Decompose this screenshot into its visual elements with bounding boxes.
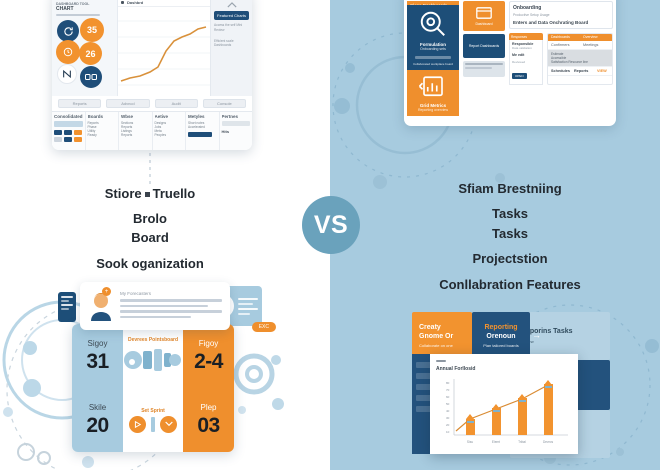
bubble-metrics-panel: DASHBOARD TOOL CHART 35 26 bbox=[52, 0, 118, 96]
table-row[interactable]: Confirmers Meetings bbox=[548, 41, 612, 50]
grid-column-consolidated[interactable]: Consolidated bbox=[52, 112, 86, 150]
tile-sub: Collaborate on one bbox=[419, 343, 465, 348]
grid-column-active[interactable]: Aetive Designs Jobs Meta Peoples bbox=[153, 112, 187, 150]
grid-stat-row: Hits bbox=[222, 129, 251, 134]
stat-value: 2-4 bbox=[194, 350, 223, 374]
view-link[interactable]: VIEW bbox=[594, 67, 612, 75]
bullet-square bbox=[145, 192, 150, 197]
response-item: Me edit bbox=[512, 53, 540, 57]
svg-text:20: 20 bbox=[446, 423, 450, 427]
bar-chart-card[interactable]: Annual Forllosid 807060 504030 2010 bbox=[430, 354, 578, 454]
collaboration-dashboard-card[interactable]: Close Dashboards Formulation Onboarding … bbox=[404, 0, 616, 126]
server-icon bbox=[58, 292, 76, 322]
x-tick-0: Sisu bbox=[467, 440, 473, 444]
side-note-3: Dashboards bbox=[214, 43, 249, 47]
side-note-1: Access the self Mini Review bbox=[214, 23, 249, 33]
svg-text:70: 70 bbox=[446, 388, 450, 392]
chart-side-panel[interactable]: Featured Charts Access the self Mini Rev… bbox=[210, 0, 252, 96]
left-headline-2: Brolo bbox=[0, 211, 300, 226]
chart-tab-icon bbox=[121, 1, 124, 4]
right-headline-4: Projectstion bbox=[360, 251, 660, 266]
main-content-column: Onboarding Productive Setup Usage Enters… bbox=[509, 1, 613, 115]
profile-title: My Forecasters bbox=[120, 291, 222, 296]
table-cell: Reports bbox=[571, 67, 594, 75]
thumb-label: Dashboard bbox=[475, 22, 492, 26]
thumbnail-column[interactable]: Dashboard Report Dashboards bbox=[463, 1, 505, 115]
right-headline-3: Tasks bbox=[360, 226, 660, 241]
grid-column-metyles[interactable]: Metyles Short notes Accelerated bbox=[186, 112, 220, 150]
open-badge[interactable]: OPEN bbox=[512, 73, 527, 79]
features-illustration: Pusporins Tasks Overview Reporerts Tasks… bbox=[412, 312, 612, 460]
right-headline-1: Sfiam Brestniing bbox=[360, 181, 660, 196]
chart-tab-row[interactable]: Dashbrd bbox=[118, 0, 210, 7]
divider-bar bbox=[151, 417, 155, 432]
comparison-infographic: DASHBOARD TOOL CHART 35 26 bbox=[0, 0, 660, 470]
dashed-connector bbox=[146, 146, 154, 188]
vs-badge: VS bbox=[302, 196, 360, 254]
table-cell: Satisfaction Resource line bbox=[551, 60, 609, 64]
right-headline-2: Tasks bbox=[360, 206, 660, 221]
thumb-workflow-overviews[interactable] bbox=[463, 61, 505, 77]
left-panel: DASHBOARD TOOL CHART 35 26 bbox=[0, 0, 330, 470]
tile-title-a: Reporting bbox=[484, 324, 517, 333]
response-item: Data validation bbox=[512, 46, 540, 50]
tile-title-b: Orenoun bbox=[486, 333, 515, 342]
stat-label: Skile bbox=[89, 403, 106, 412]
left-headline-1b: Truello bbox=[153, 186, 196, 201]
tile-title: Creaty Gnome Or bbox=[419, 324, 465, 342]
menu-icon[interactable] bbox=[436, 360, 446, 362]
grid-col-header: Pertnes bbox=[222, 114, 251, 119]
tile-creaty-gnome[interactable]: Creaty Gnome Or Collaborate on one bbox=[412, 312, 472, 360]
note-bullet: Enters and Data Onchrating Board bbox=[513, 20, 609, 25]
grid-cell: Ready bbox=[88, 133, 117, 137]
metric-bubble-35[interactable]: 35 bbox=[80, 18, 104, 42]
panel-sub: Reporting overview bbox=[418, 108, 448, 112]
footer-button-reports[interactable]: Reports bbox=[58, 99, 101, 108]
response-item: Reviewed bbox=[512, 60, 540, 64]
grid-col-header: Consolidated bbox=[54, 114, 83, 119]
table-row[interactable]: Estimate Accessible Satisfaction Resourc… bbox=[548, 50, 612, 67]
table-cell: Schedules bbox=[548, 67, 571, 75]
tile-sub: Plan tailored boards bbox=[483, 343, 519, 348]
grid-column-wbse[interactable]: Wbse Sections Reports Listings Reports bbox=[119, 112, 153, 150]
stat-cell-plep[interactable]: Plep 03 bbox=[183, 388, 234, 452]
trend-line-chart bbox=[118, 7, 210, 95]
board-organization-illustration: EXC + My Forecasters bbox=[58, 282, 248, 454]
annual-bar-chart: 807060 504030 2010 bbox=[436, 375, 572, 449]
dashboards-table[interactable]: Dashboards Overview Confirmers Meetings … bbox=[547, 33, 613, 85]
tables-row: Responses Responsible Data validation Me… bbox=[509, 33, 613, 85]
metric-bubble-clock[interactable] bbox=[56, 40, 80, 64]
x-tick-3: Devros bbox=[543, 440, 554, 444]
panel-foot: Collaborated workplace board bbox=[413, 62, 453, 66]
responses-header: Responses bbox=[509, 33, 543, 40]
svg-text:10: 10 bbox=[446, 430, 450, 434]
formulation-panel[interactable]: Formulation Onboarding sets Collaborated… bbox=[407, 5, 459, 70]
grid-cell: Accelerated bbox=[188, 125, 217, 129]
stat-value: 31 bbox=[86, 350, 108, 374]
left-headline-4: Sook oganization bbox=[0, 256, 300, 271]
chart-title: Annual Forllosid bbox=[436, 366, 572, 372]
arrow-right-icon: → bbox=[532, 330, 541, 340]
data-grid[interactable]: Consolidated Boards Reports Phase Utilit… bbox=[52, 111, 252, 150]
stat-value: 03 bbox=[197, 414, 219, 438]
chevron-up-icon[interactable] bbox=[227, 2, 237, 8]
panel-sub: Onboarding sets bbox=[420, 47, 446, 51]
table-cell: Meetings bbox=[580, 41, 612, 49]
chevron-down-icon[interactable] bbox=[160, 416, 177, 433]
exc-pill-badge[interactable]: EXC bbox=[252, 322, 276, 332]
analytics-dashboard-card[interactable]: DASHBOARD TOOL CHART 35 26 bbox=[52, 0, 252, 150]
footer-button-audit[interactable]: Audit bbox=[155, 99, 198, 108]
panel-slider[interactable] bbox=[56, 14, 100, 16]
add-user-icon[interactable]: + bbox=[102, 287, 111, 296]
grid-cell: Hits bbox=[222, 129, 230, 134]
collaboration-icon bbox=[123, 345, 183, 375]
metric-bubble-icon[interactable] bbox=[57, 20, 79, 42]
featured-charts-button[interactable]: Featured Charts bbox=[214, 11, 249, 20]
panel-title: CHART bbox=[56, 6, 113, 12]
svg-text:60: 60 bbox=[446, 395, 450, 399]
note-title: Onboarding bbox=[513, 5, 609, 11]
bar-chart-icon bbox=[418, 74, 448, 100]
stat-label: Sigoy bbox=[87, 339, 107, 348]
line-chart-panel[interactable]: Dashbrd bbox=[118, 0, 210, 96]
note-sub: Productive Setup Usage bbox=[513, 13, 609, 17]
svg-text:30: 30 bbox=[446, 416, 450, 420]
stat-grid[interactable]: Sigoy 31 Devrees Pointsboard Figoy bbox=[72, 324, 234, 452]
stat-label: Devrees Pointsboard bbox=[128, 337, 178, 343]
grid-column-boards[interactable]: Boards Reports Phase Utility Ready bbox=[86, 112, 120, 150]
metric-bubble-glasses[interactable] bbox=[80, 66, 102, 88]
table-cell: Confirmers bbox=[548, 41, 580, 49]
search-icon bbox=[418, 9, 448, 39]
thumb-report-dashboards[interactable]: Report Dashboards bbox=[463, 34, 505, 58]
x-tick-1: Elemt bbox=[492, 440, 500, 444]
grid-col-header: Wbse bbox=[121, 114, 150, 119]
stat-label: Plep bbox=[200, 403, 216, 412]
stat-label: Set Sprint bbox=[141, 408, 165, 414]
grid-col-header: Aetive bbox=[155, 114, 184, 119]
footer-button-console[interactable]: Console bbox=[203, 99, 246, 108]
grid-column-pertnes[interactable]: Pertnes Hits bbox=[220, 112, 252, 150]
metric-bubble-26[interactable]: 26 bbox=[79, 42, 102, 65]
card-body: Close Dashboards Formulation Onboarding … bbox=[404, 0, 616, 118]
grid-cell: Peoples bbox=[155, 133, 184, 137]
avatar: + bbox=[88, 291, 114, 321]
brand-logo-bubble bbox=[57, 64, 77, 84]
stat-cell-devrees[interactable]: Devrees Pointsboard bbox=[123, 324, 183, 388]
stat-cell-skile[interactable]: Skile 20 bbox=[72, 388, 123, 452]
stat-label: Figoy bbox=[199, 339, 219, 348]
stat-cell-figoy[interactable]: Figoy 2-4 bbox=[183, 324, 234, 388]
table-header: Dashboards bbox=[548, 34, 580, 41]
window-icon bbox=[476, 7, 492, 19]
right-headline-5: Conllabration Features bbox=[360, 277, 660, 292]
left-headline-1: StioreTruello bbox=[0, 186, 300, 201]
dashboard-body: DASHBOARD TOOL CHART 35 26 bbox=[52, 0, 252, 96]
grid-metrics-panel[interactable]: Grid Metrics Reporting overview bbox=[407, 70, 459, 116]
svg-text:80: 80 bbox=[446, 381, 450, 385]
x-tick-2: Tribal bbox=[518, 440, 526, 444]
onboarding-note[interactable]: Onboarding Productive Setup Usage Enters… bbox=[509, 1, 613, 29]
footer-button-advanced[interactable]: Advncd bbox=[106, 99, 149, 108]
table-header: Overview bbox=[580, 34, 612, 41]
left-headline-1a: Stiore bbox=[105, 186, 142, 201]
thumb-dashboard[interactable]: Dashboard bbox=[463, 1, 505, 31]
stat-cell-sprint[interactable]: Set Sprint bbox=[123, 388, 183, 452]
grid-col-header: Metyles bbox=[188, 114, 217, 119]
stat-cell-sigoy[interactable]: Sigoy 31 bbox=[72, 324, 123, 388]
play-icon[interactable] bbox=[129, 416, 146, 433]
responses-column[interactable]: Responses Responsible Data validation Me… bbox=[509, 33, 543, 85]
grid-cell: Reports bbox=[121, 133, 150, 137]
svg-text:40: 40 bbox=[446, 409, 450, 413]
right-panel: Close Dashboards Formulation Onboarding … bbox=[330, 0, 660, 470]
left-feature-column[interactable]: Close Dashboards Formulation Onboarding … bbox=[407, 1, 459, 115]
table-footer-row[interactable]: Schedules Reports VIEW bbox=[548, 67, 612, 76]
stat-value: 20 bbox=[86, 414, 108, 438]
table-header-row: Dashboards Overview bbox=[548, 34, 612, 41]
profile-card[interactable]: + My Forecasters bbox=[80, 282, 230, 330]
grid-col-header: Boards bbox=[88, 114, 117, 119]
profile-lines: My Forecasters bbox=[120, 291, 222, 321]
left-headline-3: Board bbox=[0, 230, 300, 245]
chart-tab-label: Dashbrd bbox=[127, 0, 143, 5]
svg-text:50: 50 bbox=[446, 402, 450, 406]
tile-reporting-orenoun[interactable]: Reporting Orenoun Plan tailored boards bbox=[472, 312, 530, 360]
